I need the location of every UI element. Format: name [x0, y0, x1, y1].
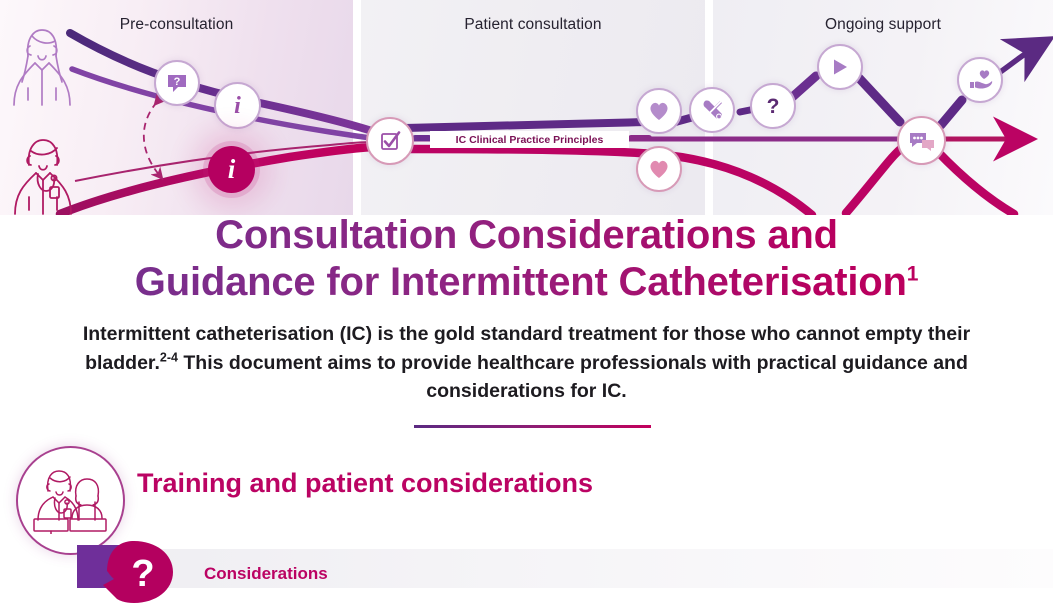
wrench-screwdriver-icon — [700, 98, 724, 122]
section-heading: Training and patient considerations — [137, 468, 593, 499]
considerations-label: Considerations — [204, 564, 328, 584]
intro-paragraph: Intermittent catheterisation (IC) is the… — [42, 320, 1011, 406]
speech-bubbles-icon — [909, 130, 935, 152]
svg-text:?: ? — [174, 76, 181, 88]
journey-flow-lines — [0, 0, 1053, 215]
question-node[interactable]: ? — [750, 83, 796, 129]
play-icon — [831, 58, 849, 76]
section-divider — [414, 425, 651, 428]
info-filled-icon: i — [228, 156, 236, 183]
info-filled-node[interactable]: i — [208, 146, 255, 193]
heart-icon — [648, 159, 670, 179]
two-people-desk-icon — [32, 468, 110, 534]
patient-figure — [8, 26, 74, 106]
heart-pink-node[interactable] — [636, 146, 682, 192]
title-line-1: Consultation Considerations and — [0, 212, 1053, 259]
clinician-figure — [8, 137, 78, 215]
question-mark-icon: ? — [767, 96, 780, 117]
tools-node[interactable] — [689, 87, 735, 133]
considerations-question-badge: ? — [103, 541, 181, 603]
checkbox-tick-icon — [378, 129, 402, 153]
chat-node[interactable] — [897, 116, 946, 165]
intro-part-2: This document aims to provide healthcare… — [178, 352, 968, 403]
info-outline-node[interactable]: i — [214, 82, 261, 129]
hand-holding-heart-icon — [968, 69, 993, 91]
question-mark-glyph: ? — [131, 553, 154, 595]
journey-map-banner: Pre-consultation Patient consultation On… — [0, 0, 1053, 215]
checklist-node[interactable] — [366, 117, 414, 165]
principles-pill-label: IC Clinical Practice Principles — [456, 134, 604, 146]
hand-heart-node[interactable] — [957, 57, 1003, 103]
intro-reference: 2-4 — [160, 350, 178, 364]
title-line-2: Guidance for Intermittent Catheterisatio… — [0, 259, 1053, 306]
info-icon: i — [234, 94, 241, 118]
ic-clinical-practice-principles-pill: IC Clinical Practice Principles — [430, 131, 629, 148]
question-bubble-icon: ? — [166, 72, 188, 94]
consultation-two-people-icon — [16, 446, 125, 555]
heart-icon — [648, 101, 670, 121]
question-bubble-node[interactable]: ? — [154, 60, 200, 106]
heart-purple-node[interactable] — [636, 88, 682, 134]
title-line-2-text: Guidance for Intermittent Catheterisatio… — [135, 260, 907, 304]
title-reference: 1 — [907, 263, 918, 286]
page-title: Consultation Considerations and Guidance… — [0, 212, 1053, 306]
play-node[interactable] — [817, 44, 863, 90]
